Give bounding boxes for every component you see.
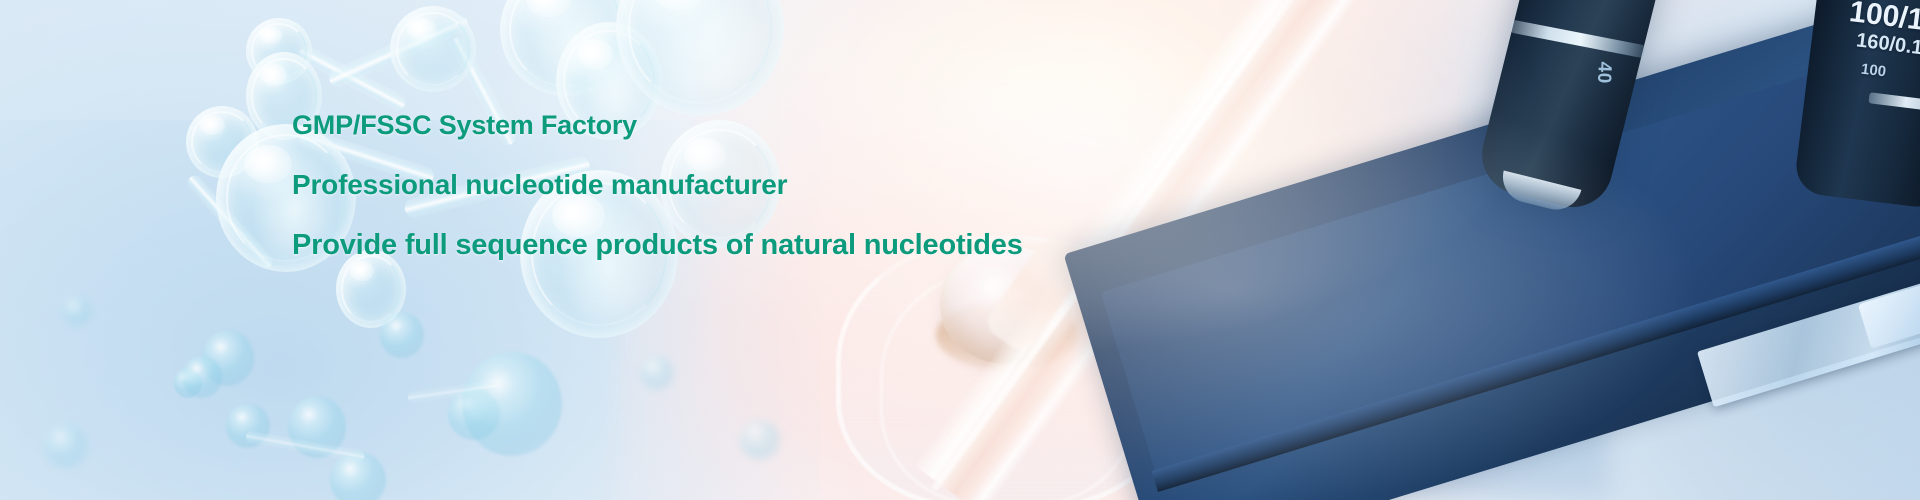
molecule-bubble (44, 424, 88, 468)
headline-line-1: GMP/FSSC System Factory (292, 112, 1192, 139)
laboratory-hero-banner: 40 100/1.25 160/0.17 100 GMP/FSSC System… (0, 0, 1920, 500)
molecule-bubble (380, 312, 424, 358)
objective-magnification-label-right: 100 (1860, 61, 1887, 81)
objective-ring (1510, 20, 1646, 59)
molecule-bubble (740, 420, 780, 460)
objective-magnification-label-left: 40 (1592, 61, 1615, 84)
molecule-bubble (640, 356, 674, 390)
molecule-bubble (182, 356, 222, 398)
molecule-bubble (462, 352, 562, 456)
molecule-sphere (390, 6, 476, 92)
molecule-bubble (62, 296, 92, 326)
headline-line-2: Professional nucleotide manufacturer (292, 171, 1192, 199)
headline-line-3: Provide full sequence products of natura… (292, 231, 1192, 260)
headline-group: GMP/FSSC System Factory Professional nuc… (292, 112, 1192, 260)
objective-ring (1868, 92, 1920, 114)
